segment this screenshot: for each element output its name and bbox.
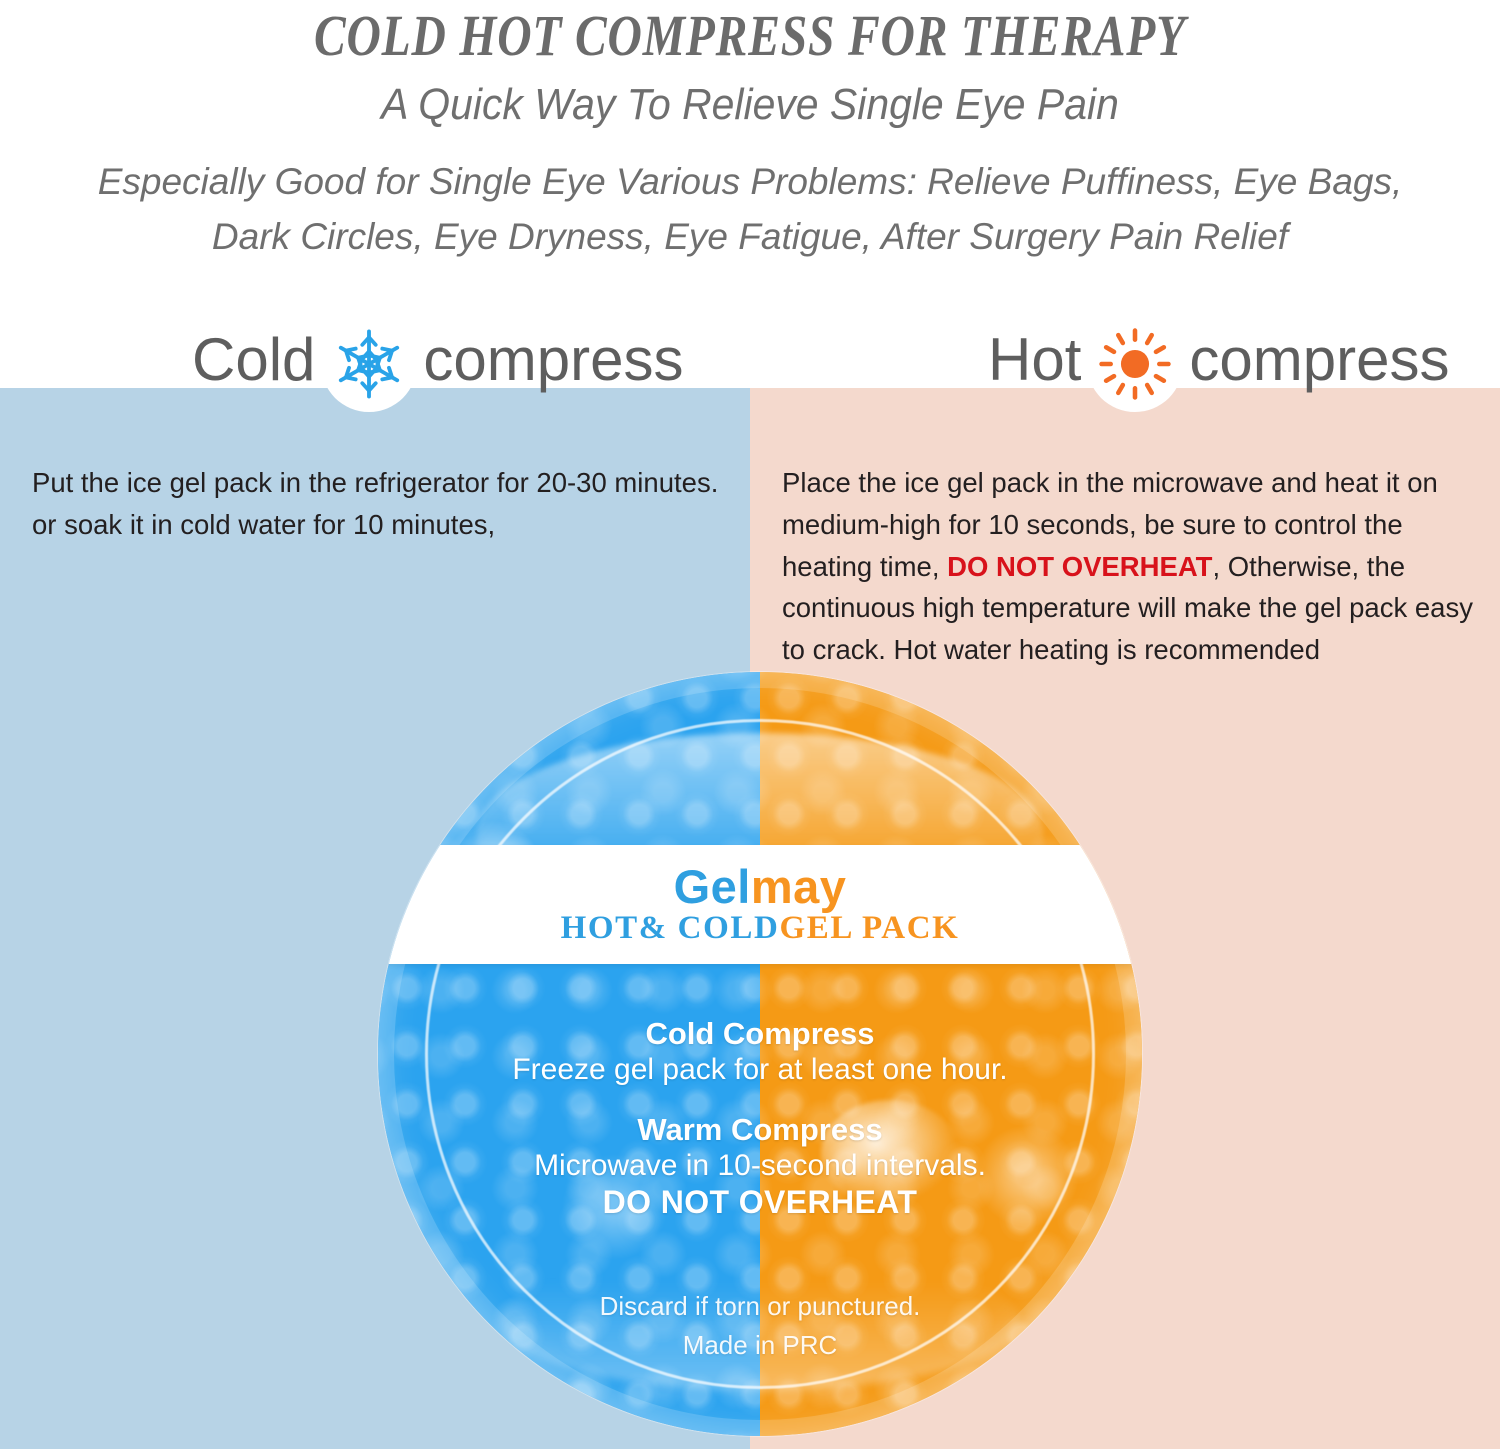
hot-instruction-warning: DO NOT OVERHEAT xyxy=(947,551,1212,582)
brand-subtitle: HOT& COLDGEL PACK xyxy=(561,912,960,945)
cold-heading-word-compress: compress xyxy=(423,330,683,390)
hot-heading-word-compress: compress xyxy=(1189,330,1449,390)
infographic-page: COLD HOT COMPRESS FOR THERAPY A Quick Wa… xyxy=(0,0,1500,1449)
page-tagline: Especially Good for Single Eye Various P… xyxy=(75,155,1425,265)
sun-icon xyxy=(1087,316,1183,412)
gel-bead-texture-hot-2 xyxy=(760,672,1142,1436)
cold-heading-word: Cold xyxy=(192,330,315,390)
cold-section-heading: Cold xyxy=(192,316,683,412)
page-title: COLD HOT COMPRESS FOR THERAPY xyxy=(135,2,1365,69)
brand-name-part1: Gel xyxy=(674,860,751,913)
page-subtitle: A Quick Way To Relieve Single Eye Pain xyxy=(53,80,1448,130)
snowflake-icon xyxy=(321,316,417,412)
brand-subtitle-part2: GEL PACK xyxy=(779,910,959,946)
brand-name: Gelmay xyxy=(674,863,847,910)
gel-bead-texture-cold-2 xyxy=(378,672,760,1436)
hot-instruction-text: Place the ice gel pack in the microwave … xyxy=(782,462,1482,671)
brand-name-part2: may xyxy=(751,860,847,913)
brand-subtitle-part1: HOT& COLD xyxy=(561,910,780,946)
product-label-band: Gelmay HOT& COLDGEL PACK xyxy=(378,845,1142,964)
hot-heading-word: Hot xyxy=(988,330,1081,390)
gel-pack-hot-half xyxy=(760,672,1142,1436)
gel-pack-disc: Gelmay HOT& COLDGEL PACK Cold Compress F… xyxy=(378,672,1142,1436)
gel-pack-product: Gelmay HOT& COLDGEL PACK Cold Compress F… xyxy=(378,672,1142,1436)
gel-pack-cold-half xyxy=(378,672,760,1436)
cold-instruction-text: Put the ice gel pack in the refrigerator… xyxy=(32,462,732,546)
hot-section-heading: Hot compress xyxy=(988,316,1449,412)
